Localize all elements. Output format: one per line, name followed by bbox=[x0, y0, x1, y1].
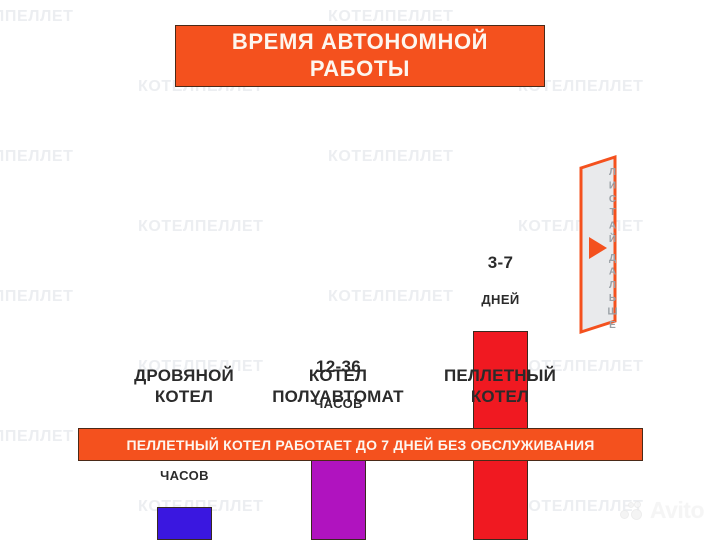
bar-value-label-pellet-boiler: 3-7 ДНЕЙ bbox=[481, 234, 519, 326]
bar-value-unit: ДНЕЙ bbox=[481, 292, 519, 307]
bottom-callout-text: ПЕЛЛЕТНЫЙ КОТЕЛ РАБОТАЕТ ДО 7 ДНЕЙ БЕЗ О… bbox=[126, 437, 594, 453]
bar-value-big: 3-7 bbox=[481, 253, 519, 273]
header-banner: ВРЕМЯ АВТОНОМНОЙ РАБОТЫ bbox=[175, 25, 545, 87]
bar-value-unit: ЧАСОВ bbox=[160, 468, 209, 483]
bar-rect-wood-boiler bbox=[157, 507, 212, 540]
bar-group-pellet-boiler: 3-7 ДНЕЙ bbox=[473, 185, 528, 540]
swipe-banner-text-bottom: ДАЛЬШЕ bbox=[578, 261, 618, 325]
avito-watermark: Avito bbox=[620, 497, 704, 524]
bar-group-wood-boiler: 4-8 ЧАСОВ bbox=[157, 185, 212, 540]
swipe-next-banner[interactable]: ЛИСТАЙ ДАЛЬШЕ bbox=[578, 157, 618, 332]
avito-circles-icon bbox=[620, 501, 646, 521]
page-title: ВРЕМЯ АВТОНОМНОЙ РАБОТЫ bbox=[232, 29, 488, 83]
bar-category-label-pellet-boiler: ПЕЛЛЕТНЫЙ КОТЕЛ bbox=[400, 365, 600, 408]
avito-wordmark: Avito bbox=[650, 497, 704, 524]
bar-group-semiauto-boiler: 12-36 ЧАСОВ bbox=[311, 185, 366, 540]
infographic-canvas: КОТЕЛПЕЛЛЕТ КОТЕЛПЕЛЛЕТ КОТЕЛПЕЛЛЕТ КОТЕ… bbox=[0, 0, 720, 540]
swipe-banner-text-top: ЛИСТАЙ bbox=[578, 179, 618, 235]
bottom-callout-banner: ПЕЛЛЕТНЫЙ КОТЕЛ РАБОТАЕТ ДО 7 ДНЕЙ БЕЗ О… bbox=[78, 428, 643, 461]
